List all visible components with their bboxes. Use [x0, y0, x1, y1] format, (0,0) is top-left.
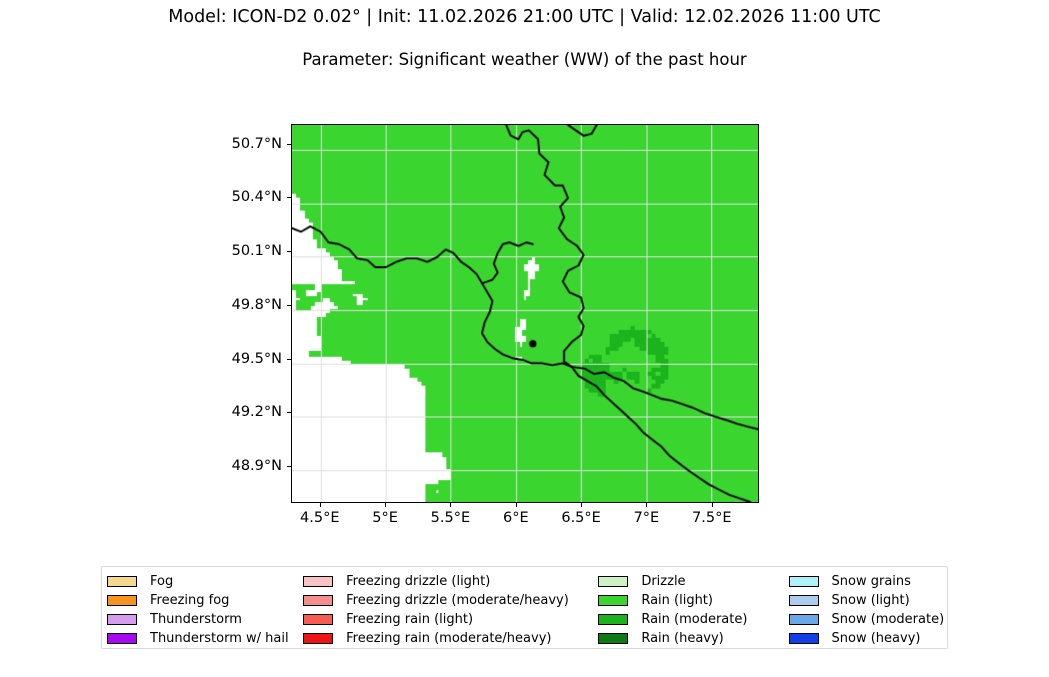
y-axis-tick-label: 49.2°N — [232, 404, 282, 420]
legend-column: Freezing drizzle (light) Freezing drizzl… — [301, 572, 596, 648]
weather-legend: Fog Freezing fog Thunderstorm Thundersto… — [101, 566, 948, 649]
parameter-subtitle: Parameter: Significant weather (WW) of t… — [0, 27, 1049, 69]
legend-item-label: Fog — [150, 575, 173, 588]
legend-item-label: Thunderstorm — [150, 613, 242, 626]
x-axis-tickmark — [516, 503, 517, 507]
color-swatch-icon — [789, 576, 819, 587]
color-swatch-icon — [598, 576, 628, 587]
legend-item-label: Snow grains — [832, 575, 911, 588]
color-swatch-icon — [303, 614, 333, 625]
legend-item-freezing-fog[interactable]: Freezing fog — [107, 591, 301, 610]
legend-item-label: Snow (heavy) — [832, 632, 921, 645]
legend-item-label: Rain (moderate) — [641, 613, 747, 626]
x-axis-tick-label: 5°E — [372, 510, 398, 526]
color-swatch-icon — [107, 595, 137, 606]
color-swatch-icon — [107, 633, 137, 644]
legend-column: Snow grains Snow (light) Snow (moderate)… — [787, 572, 947, 648]
legend-item-label: Thunderstorm w/ hail — [150, 632, 289, 645]
x-axis-tick-label: 7°E — [634, 510, 660, 526]
legend-item-label: Snow (light) — [832, 594, 910, 607]
precipitation-raster — [292, 125, 758, 502]
legend-item-label: Rain (heavy) — [641, 632, 723, 645]
legend-item-thunderstorm[interactable]: Thunderstorm — [107, 610, 301, 629]
legend-item-fog[interactable]: Fog — [107, 572, 301, 591]
legend-item-label: Snow (moderate) — [832, 613, 945, 626]
legend-item-label: Freezing rain (light) — [346, 613, 473, 626]
legend-item-snow-light[interactable]: Snow (light) — [789, 591, 947, 610]
legend-item-label: Freezing drizzle (moderate/heavy) — [346, 594, 569, 607]
legend-item-freezing-rain-moderate[interactable]: Freezing rain (moderate/heavy) — [303, 629, 596, 648]
x-axis-tickmark — [581, 503, 582, 507]
legend-column: Fog Freezing fog Thunderstorm Thundersto… — [102, 572, 301, 648]
legend-item-label: Freezing rain (moderate/heavy) — [346, 632, 551, 645]
color-swatch-icon — [107, 614, 137, 625]
color-swatch-icon — [303, 576, 333, 587]
legend-item-label: Drizzle — [641, 575, 685, 588]
x-axis-tickmark — [450, 503, 451, 507]
y-axis-tick-label: 50.7°N — [232, 136, 282, 152]
color-swatch-icon — [598, 614, 628, 625]
color-swatch-icon — [107, 576, 137, 587]
y-axis-tick-label: 50.1°N — [232, 243, 282, 259]
color-swatch-icon — [789, 595, 819, 606]
x-axis-tickmark — [320, 503, 321, 507]
y-axis-tick-label: 49.5°N — [232, 351, 282, 367]
x-axis-tickmark — [385, 503, 386, 507]
x-axis-tick-label: 7.5°E — [692, 510, 731, 526]
x-axis-tickmark — [646, 503, 647, 507]
title-block: Model: ICON-D2 0.02° | Init: 11.02.2026 … — [0, 0, 1049, 68]
color-swatch-icon — [598, 595, 628, 606]
weather-map-figure: 50.7°N 50.4°N 50.1°N 49.8°N 49.5°N 49.2°… — [291, 124, 759, 503]
legend-item-snow-grains[interactable]: Snow grains — [789, 572, 947, 591]
page-title: Model: ICON-D2 0.02° | Init: 11.02.2026 … — [0, 0, 1049, 27]
legend-item-rain-moderate[interactable]: Rain (moderate) — [598, 610, 786, 629]
legend-item-rain-light[interactable]: Rain (light) — [598, 591, 786, 610]
legend-item-label: Freezing drizzle (light) — [346, 575, 490, 588]
x-axis-tickmark — [712, 503, 713, 507]
color-swatch-icon — [598, 633, 628, 644]
color-swatch-icon — [789, 614, 819, 625]
x-axis-tick-label: 6°E — [503, 510, 529, 526]
y-axis-tick-label: 50.4°N — [232, 189, 282, 205]
legend-item-freezing-drizzle-light[interactable]: Freezing drizzle (light) — [303, 572, 596, 591]
color-swatch-icon — [303, 633, 333, 644]
legend-item-snow-heavy[interactable]: Snow (heavy) — [789, 629, 947, 648]
legend-item-snow-moderate[interactable]: Snow (moderate) — [789, 610, 947, 629]
legend-item-label: Freezing fog — [150, 594, 229, 607]
y-axis-tick-label: 48.9°N — [232, 458, 282, 474]
x-axis-tick-label: 5.5°E — [431, 510, 470, 526]
map-plot-area[interactable] — [291, 124, 759, 503]
x-axis-tick-label: 6.5°E — [561, 510, 600, 526]
legend-item-freezing-rain-light[interactable]: Freezing rain (light) — [303, 610, 596, 629]
legend-item-rain-heavy[interactable]: Rain (heavy) — [598, 629, 786, 648]
legend-item-thunderstorm-hail[interactable]: Thunderstorm w/ hail — [107, 629, 301, 648]
color-swatch-icon — [303, 595, 333, 606]
legend-column: Drizzle Rain (light) Rain (moderate) Rai… — [596, 572, 786, 648]
legend-item-freezing-drizzle-moderate[interactable]: Freezing drizzle (moderate/heavy) — [303, 591, 596, 610]
legend-item-drizzle[interactable]: Drizzle — [598, 572, 786, 591]
x-axis-tick-label: 4.5°E — [300, 510, 339, 526]
legend-item-label: Rain (light) — [641, 594, 713, 607]
y-axis-tick-label: 49.8°N — [232, 297, 282, 313]
color-swatch-icon — [789, 633, 819, 644]
